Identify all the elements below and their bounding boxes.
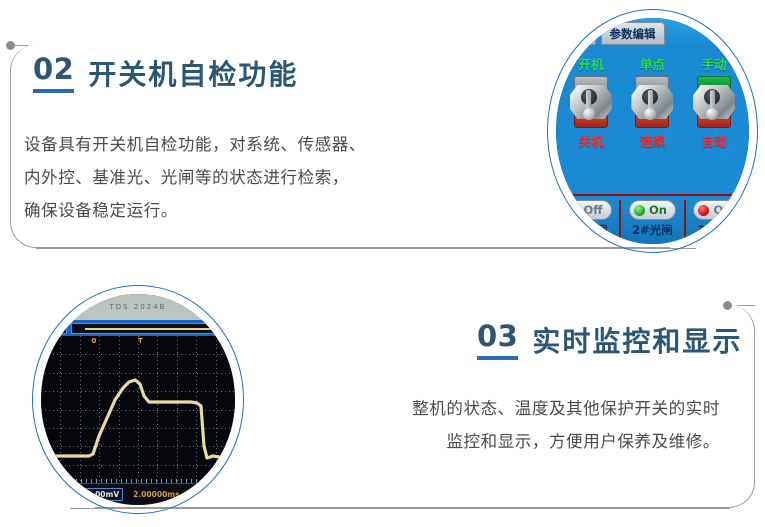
- time-per-div-readout: 2.00000ms: [129, 488, 183, 501]
- tab-dong[interactable]: 动: [574, 21, 596, 45]
- control-panel-tabbar: 动 参数编辑: [556, 18, 749, 48]
- section-02-frame-bottom: [36, 248, 696, 249]
- toggle-switch-power[interactable]: 开机 关机: [562, 54, 620, 150]
- status-led-icon: [634, 205, 645, 216]
- oscilloscope-brand-label: TDS 2024B: [41, 294, 235, 320]
- section-02-number: 02: [33, 55, 74, 93]
- section-03-frame-top-stub: [737, 305, 755, 306]
- shutter-1-button[interactable]: Off: [563, 200, 611, 220]
- toggle-switch-row: 开机 关机 单点: [556, 54, 749, 150]
- section-03-heading: 03 实时监控和显示: [477, 322, 742, 360]
- toggle-switch-mode[interactable]: 单点 连续: [623, 54, 681, 150]
- volts-per-div-readout: 2.00mV: [83, 488, 123, 501]
- toggle-switch-icon: [568, 76, 614, 128]
- shutter-control-bar: Off 1#光闸 On 2#光闸 Off 3#光闸: [556, 194, 749, 244]
- switch-off-label: 关机: [578, 131, 603, 150]
- section-03-title: 实时监控和显示: [532, 328, 742, 360]
- shutter-cell-2[interactable]: On 2#光闸: [621, 200, 686, 238]
- control-panel-background: 动 参数编辑 开机 关机 单点: [556, 18, 749, 244]
- shutter-3-state: Off: [713, 203, 732, 217]
- page-root: 02 开关机自检功能 设备具有开关机自检功能，对系统、传感器、 内外控、基准光、…: [0, 0, 765, 527]
- section-02-body: 设备具有开关机自检功能，对系统、传感器、 内外控、基准光、光闸等的状态进行检索，…: [24, 128, 366, 227]
- section-03-number: 03: [477, 322, 518, 360]
- status-led-icon: [698, 205, 709, 216]
- toggle-switch-icon: [629, 76, 675, 128]
- shutter-2-caption: 2#光闸: [632, 222, 673, 238]
- switch-on-label: 单点: [640, 54, 665, 73]
- oscilloscope-bezel: TDS 2024B: [41, 294, 235, 505]
- shutter-2-state: On: [649, 203, 667, 217]
- oscilloscope-photo: TDS 2024B: [41, 294, 235, 505]
- shutter-1-state: Off: [583, 203, 602, 217]
- section-02-frame-dot: [6, 41, 15, 50]
- toggle-switch-icon: [691, 76, 737, 128]
- shutter-cell-1[interactable]: Off 1#光闸: [556, 200, 621, 238]
- shutter-cell-3[interactable]: Off 3#光闸: [686, 200, 749, 238]
- menubar-indicator-box: [45, 323, 67, 334]
- shutter-2-button[interactable]: On: [629, 200, 676, 220]
- switch-off-label: 连续: [640, 131, 665, 150]
- waveform-trace: [41, 336, 235, 483]
- control-panel-photo: 动 参数编辑 开机 关机 单点: [556, 18, 749, 244]
- shutter-3-button[interactable]: Off: [693, 200, 741, 220]
- oscilloscope-statusbar: 2.00mV 2.00000ms: [41, 483, 235, 505]
- switch-knob: [583, 108, 595, 120]
- switch-on-label: 开机: [578, 54, 603, 73]
- section-03-frame-dot: [723, 301, 732, 310]
- tab-parameter-edit[interactable]: 参数编辑: [601, 22, 665, 45]
- oscilloscope-screen: 0 T: [41, 336, 235, 483]
- switch-on-label: 手动: [702, 54, 727, 73]
- status-led-icon: [568, 205, 579, 216]
- section-02-title: 开关机自检功能: [88, 61, 298, 93]
- toggle-switch-manual-auto[interactable]: 手动 自动: [685, 54, 743, 150]
- shutter-3-caption: 3#光闸: [697, 222, 738, 238]
- section-02-heading: 02 开关机自检功能: [33, 55, 298, 93]
- section-03-body: 整机的状态、温度及其他保护开关的实时 监控和显示，方便用户保养及维修。: [360, 392, 720, 458]
- switch-off-label: 自动: [702, 131, 727, 150]
- shutter-1-caption: 1#光闸: [567, 222, 608, 238]
- menubar-readout-strip: [71, 323, 231, 334]
- oscilloscope-menubar: [41, 320, 235, 336]
